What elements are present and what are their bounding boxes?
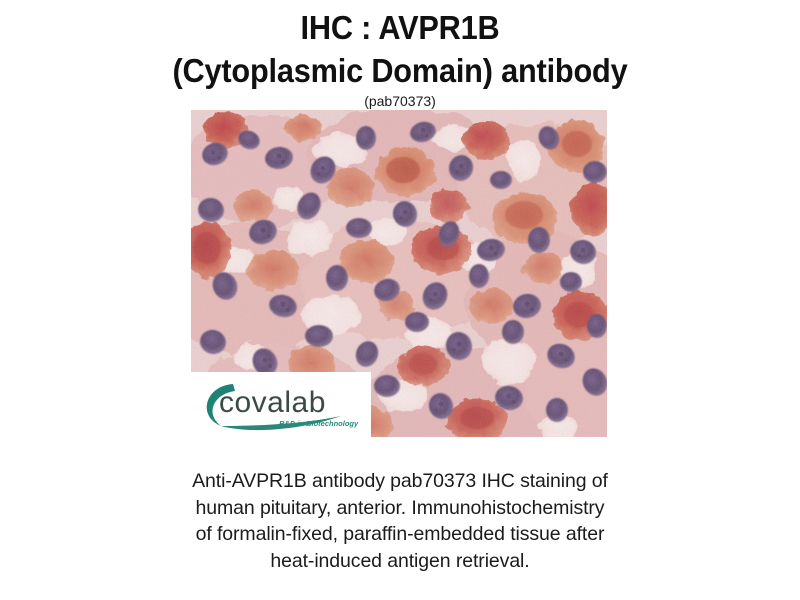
ihc-micrograph-image: covalab R&D in Biotechnology [191, 110, 607, 437]
title-block: IHC : AVPR1B (Cytoplasmic Domain) antibo… [0, 0, 800, 110]
logo-wordmark: covalab [219, 386, 326, 419]
page-title-line-2: (Cytoplasmic Domain) antibody [28, 50, 772, 92]
covalab-logo-graphic: covalab R&D in Biotechnology [191, 372, 371, 437]
caption-line-1: Anti-AVPR1B antibody pab70373 IHC staini… [100, 468, 700, 495]
page-title-line-1: IHC : AVPR1B [28, 7, 772, 49]
caption-line-4: heat-induced antigen retrieval. [100, 548, 700, 575]
caption-line-3: of formalin-fixed, paraffin-embedded tis… [100, 521, 700, 548]
caption-line-2: human pituitary, anterior. Immunohistoch… [100, 495, 700, 522]
logo-tagline: R&D in Biotechnology [279, 419, 359, 428]
figure-caption: Anti-AVPR1B antibody pab70373 IHC staini… [100, 468, 700, 574]
covalab-logo: covalab R&D in Biotechnology [191, 372, 371, 437]
catalog-code: (pab70373) [0, 93, 800, 110]
